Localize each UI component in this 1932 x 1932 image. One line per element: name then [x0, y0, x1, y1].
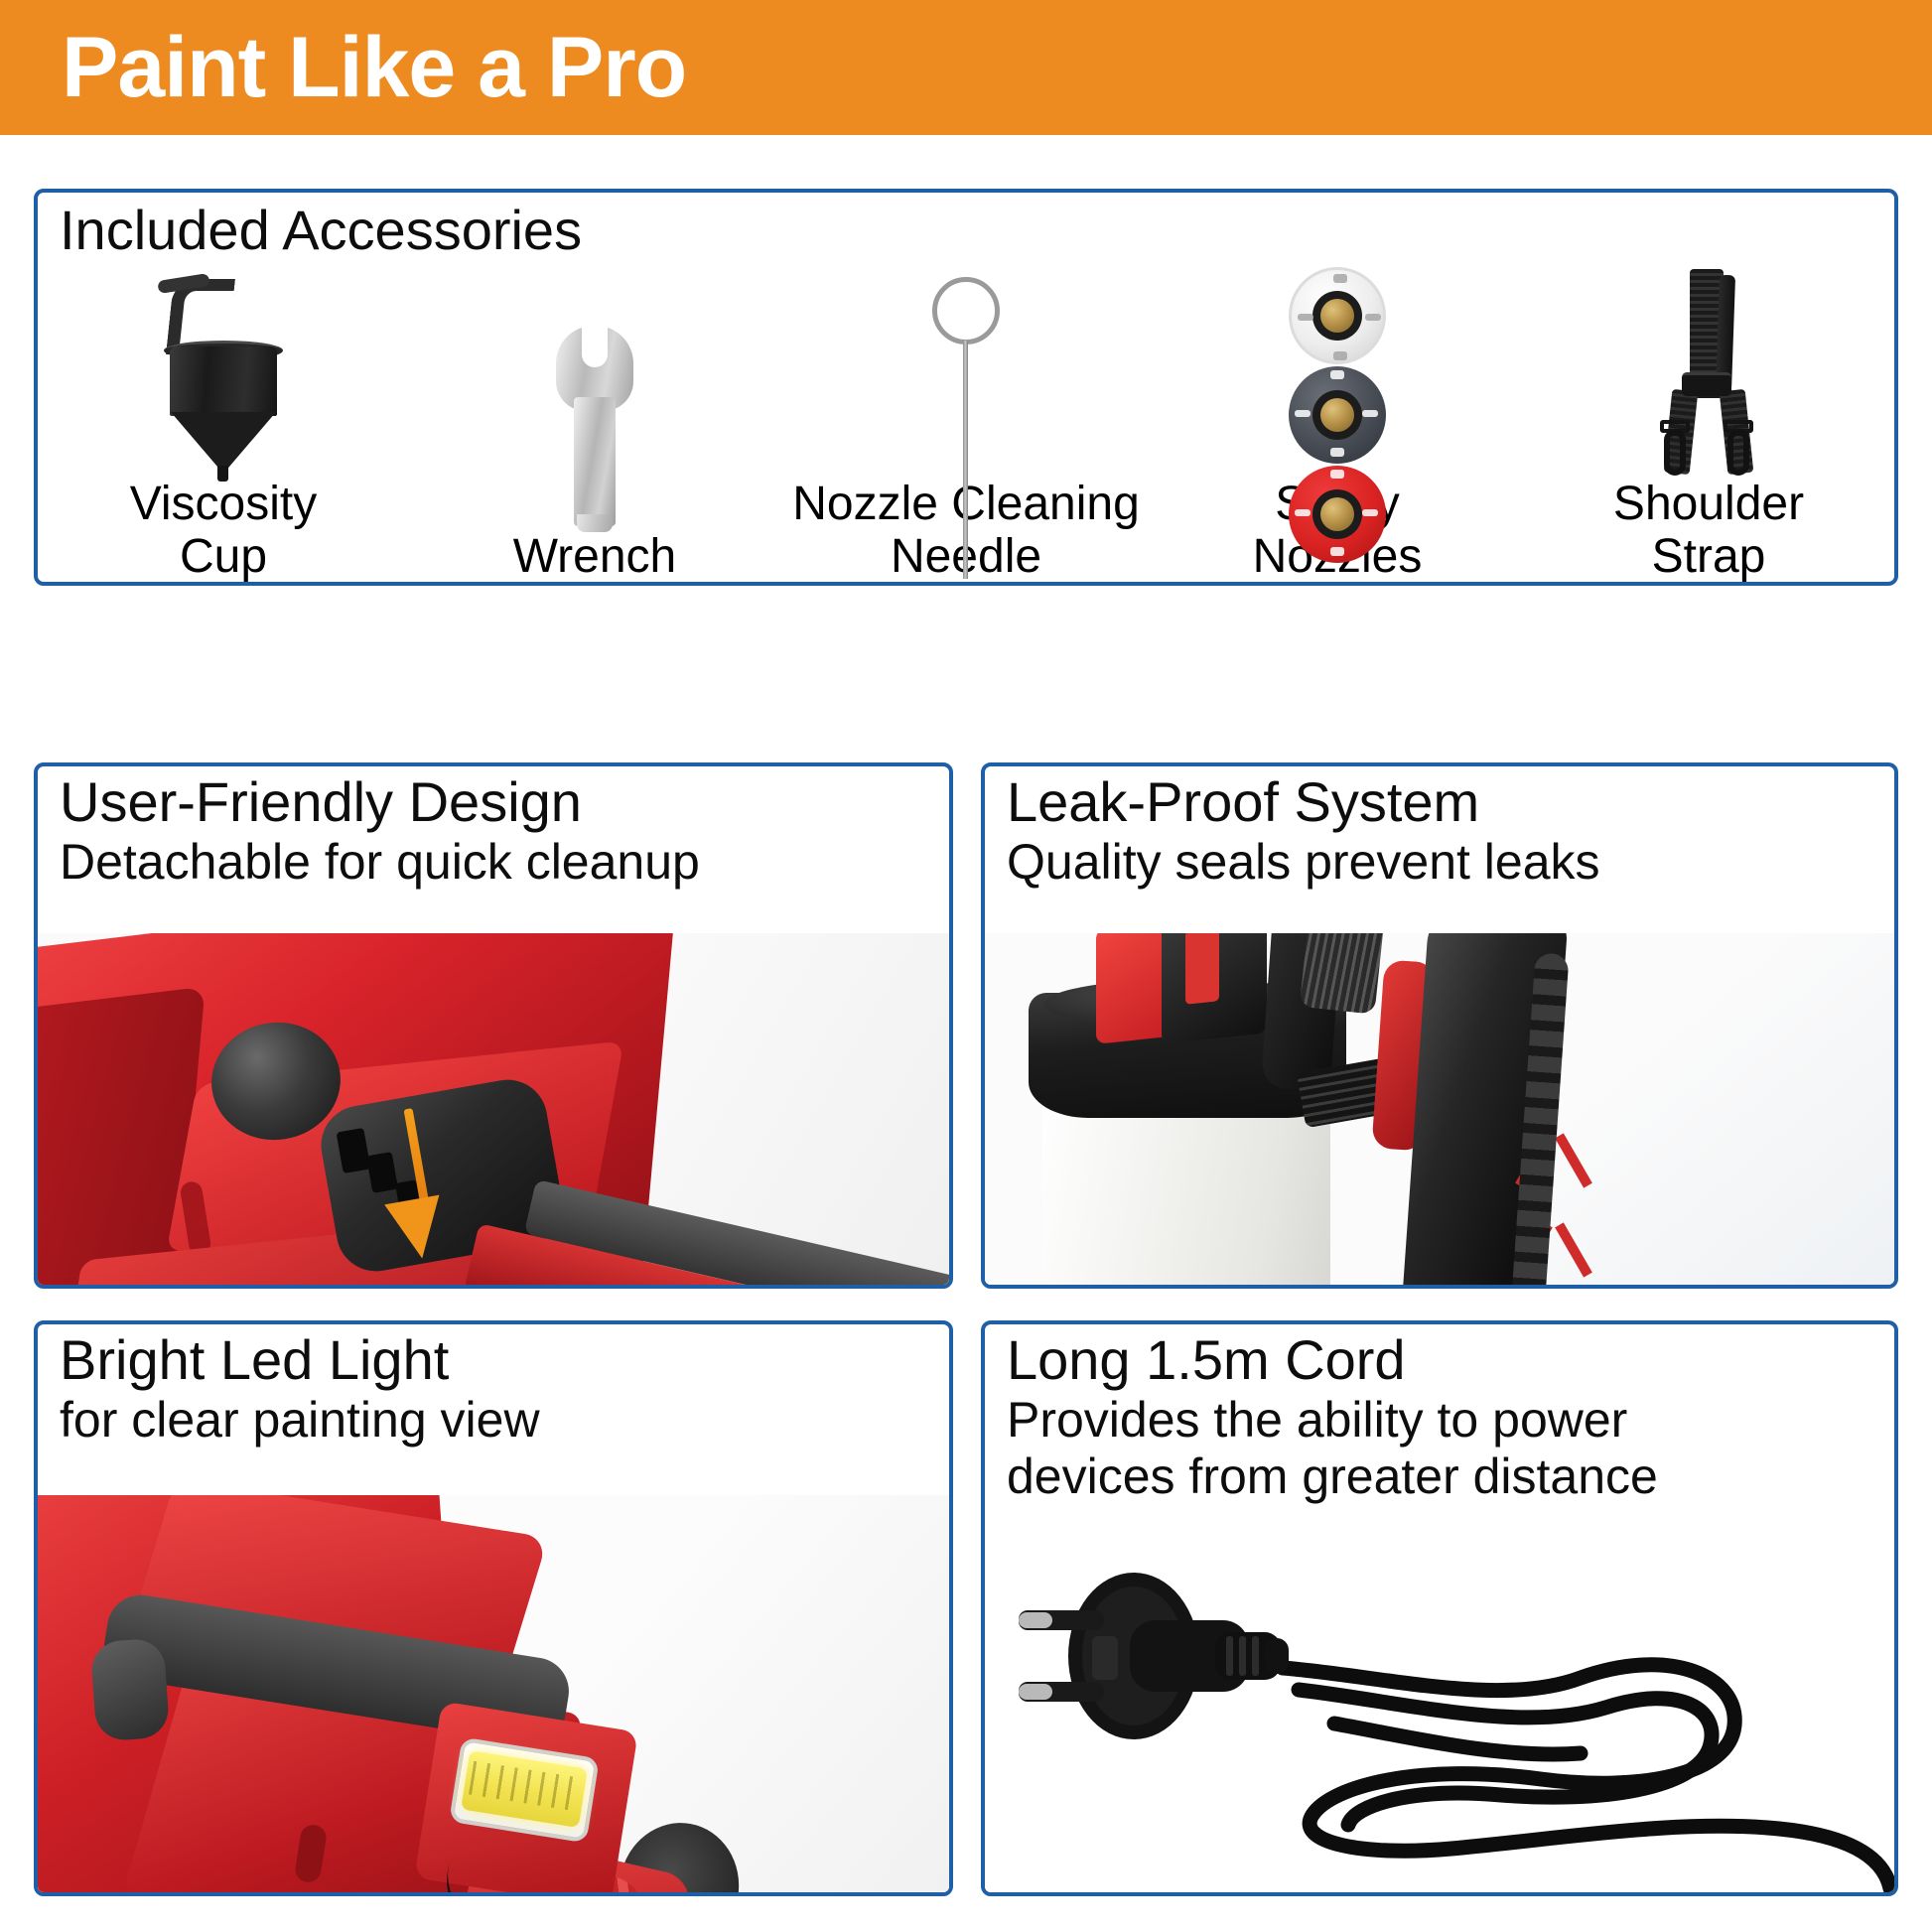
infographic-page: Paint Like a Pro Included Accessories V — [0, 0, 1932, 1932]
feature-heading: Long 1.5m Cord — [1007, 1328, 1882, 1392]
accessory-item-shoulder-strap: Shoulder Strap — [1523, 258, 1894, 586]
feature-subheading: Detachable for quick cleanup — [60, 834, 937, 891]
feature-card-bright-led-light: Bright Led Light for clear painting view — [34, 1320, 953, 1896]
power-cord-illustration — [985, 1559, 1894, 1892]
accessories-panel-title: Included Accessories — [60, 199, 582, 262]
feature-photo-bright-led-light — [38, 1495, 949, 1892]
feature-card-user-friendly-design: User-Friendly Design Detachable for quic… — [34, 762, 953, 1289]
eu-plug — [1019, 1573, 1289, 1739]
feature-heading: Bright Led Light — [60, 1328, 937, 1392]
feature-heading: Leak-Proof System — [1007, 770, 1882, 834]
page-title: Paint Like a Pro — [0, 25, 686, 110]
accessories-list: Viscosity Cup Wrench — [38, 258, 1894, 586]
accessory-item-viscosity-cup: Viscosity Cup — [38, 258, 409, 586]
feature-subheading: Quality seals prevent leaks — [1007, 834, 1882, 891]
feature-subheading: Provides the ability to power devices fr… — [1007, 1392, 1882, 1505]
feature-photo-user-friendly-design — [38, 933, 949, 1285]
feature-photo-leak-proof-system — [985, 933, 1894, 1285]
feature-text-block: Bright Led Light for clear painting view — [60, 1328, 937, 1449]
accessory-item-cleaning-needle: Nozzle Cleaning Needle — [780, 258, 1152, 586]
spray-nozzles-icon — [1152, 267, 1523, 476]
cleaning-needle-icon — [780, 267, 1152, 476]
accessory-label: Viscosity Cup — [130, 478, 318, 585]
feature-subheading: for clear painting view — [60, 1392, 937, 1449]
included-accessories-panel: Included Accessories Viscosity Cup — [34, 189, 1898, 586]
accessory-item-spray-nozzles: Spray Nozzles — [1152, 258, 1523, 586]
feature-text-block: Leak-Proof System Quality seals prevent … — [1007, 770, 1882, 891]
feature-text-block: User-Friendly Design Detachable for quic… — [60, 770, 937, 891]
feature-card-leak-proof-system: Leak-Proof System Quality seals prevent … — [981, 762, 1898, 1289]
feature-photo-long-cord — [985, 1559, 1894, 1892]
wrench-icon — [409, 320, 780, 528]
feature-heading: User-Friendly Design — [60, 770, 937, 834]
feature-card-long-cord: Long 1.5m Cord Provides the ability to p… — [981, 1320, 1898, 1896]
accessory-label: Wrench — [513, 530, 677, 584]
viscosity-cup-icon — [38, 267, 409, 476]
shoulder-strap-icon — [1523, 267, 1894, 476]
feature-text-block: Long 1.5m Cord Provides the ability to p… — [1007, 1328, 1882, 1505]
accessory-item-wrench: Wrench — [409, 258, 780, 586]
accessory-label: Shoulder Strap — [1613, 478, 1804, 585]
page-header: Paint Like a Pro — [0, 0, 1932, 135]
